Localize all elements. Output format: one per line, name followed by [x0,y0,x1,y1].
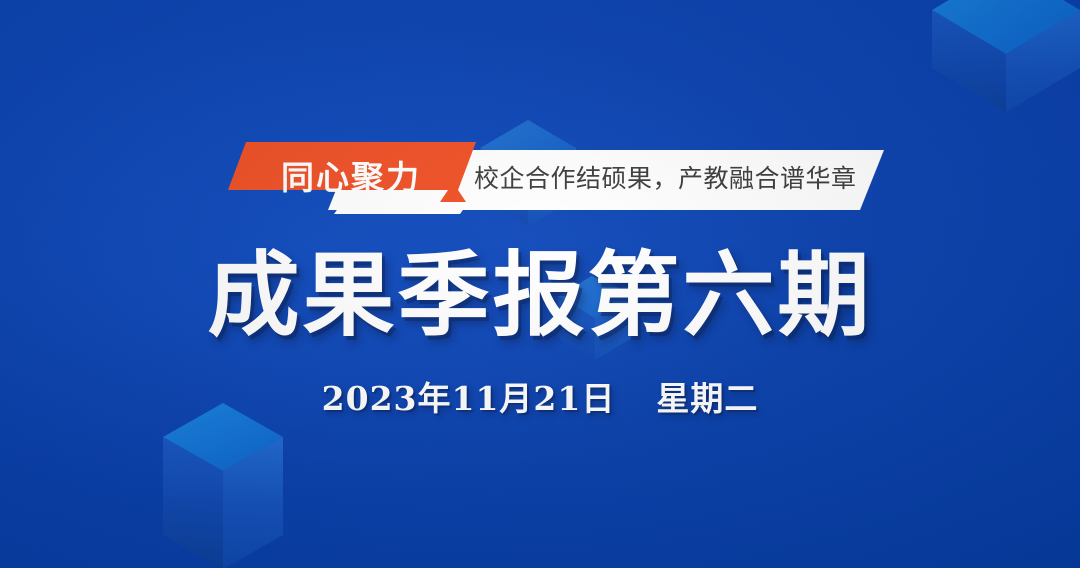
poster-canvas: 同心聚力 校企合作结硕果，产教融合谱华章 成果季报第六期 2023年11月21日… [0,0,1080,568]
tag-label: 同心聚力 [256,154,446,200]
cube-top-right-icon [930,0,1080,114]
weekday-text: 星期二 [656,379,758,418]
banner-subtitle: 校企合作结硕果，产教融合谱华章 [474,156,857,198]
page-title: 成果季报第六期 [0,247,1080,344]
cube-bottom-left-icon [160,400,286,568]
banner-text-layer: 同心聚力 校企合作结硕果，产教融合谱华章 [0,128,1080,238]
date-text: 2023年11月21日 [322,379,616,418]
date-line: 2023年11月21日 星期二 [0,372,1080,420]
